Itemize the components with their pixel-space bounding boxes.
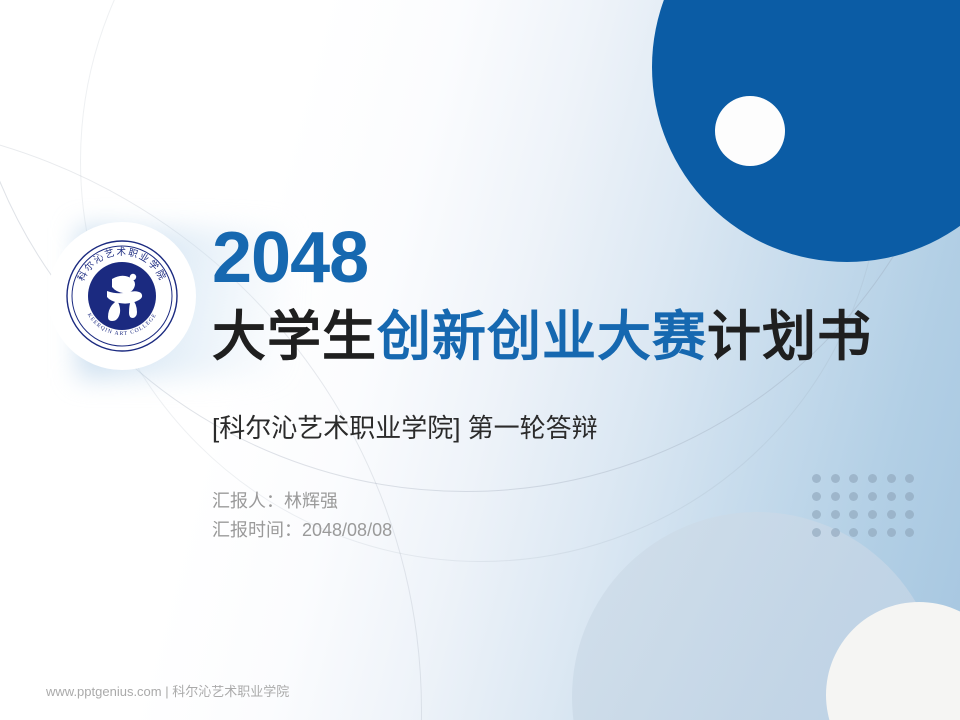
grid-dot [831,492,840,501]
subtitle: [科尔沁艺术职业学院] 第一轮答辩 [212,408,598,445]
grid-dot [905,474,914,483]
background-arc-3 [80,0,882,562]
grid-dot [831,510,840,519]
dot-grid-decoration [812,474,924,546]
headline-prefix: 大学生 [212,307,377,367]
report-date-line: 汇报时间：2048/08/08 [212,516,392,545]
college-emblem-icon: 科尔沁艺术职业学院 KEERQIN ART COLLEGE [63,237,181,355]
main-headline: 大学生创新创业大赛计划书 [212,308,872,366]
year-heading: 2048 [212,222,368,294]
grid-dot [812,510,821,519]
grid-dot [887,492,896,501]
grid-dot [905,510,914,519]
grid-dot [905,528,914,537]
grid-dot [849,510,858,519]
headline-highlight: 创新创业大赛 [377,307,707,367]
grid-dot [887,510,896,519]
grid-dot [887,528,896,537]
grid-dot [868,492,877,501]
footer-credit: www.pptgenius.com | 科尔沁艺术职业学院 [46,681,289,700]
presenter-line: 汇报人：林辉强 [212,487,392,516]
white-circle-decoration [826,602,960,720]
grid-dot [849,492,858,501]
grid-dot [868,528,877,537]
grid-dot [831,474,840,483]
presentation-meta: 汇报人：林辉强 汇报时间：2048/08/08 [212,487,392,545]
grid-dot [868,474,877,483]
presentation-title-slide: 科尔沁艺术职业学院 KEERQIN ART COLLEGE 2048 大学生创新… [0,0,960,720]
grid-dot [887,474,896,483]
grid-dot [905,492,914,501]
headline-suffix: 计划书 [707,307,872,367]
grid-dot [868,510,877,519]
grid-dot [812,492,821,501]
blue-circle-decoration [652,0,960,262]
grid-dot [849,528,858,537]
college-logo: 科尔沁艺术职业学院 KEERQIN ART COLLEGE [48,222,196,370]
grid-dot [849,474,858,483]
white-dot-decoration [715,96,785,166]
grid-dot [812,474,821,483]
soft-blue-circle-decoration [572,512,942,720]
grid-dot [831,528,840,537]
grid-dot [812,528,821,537]
